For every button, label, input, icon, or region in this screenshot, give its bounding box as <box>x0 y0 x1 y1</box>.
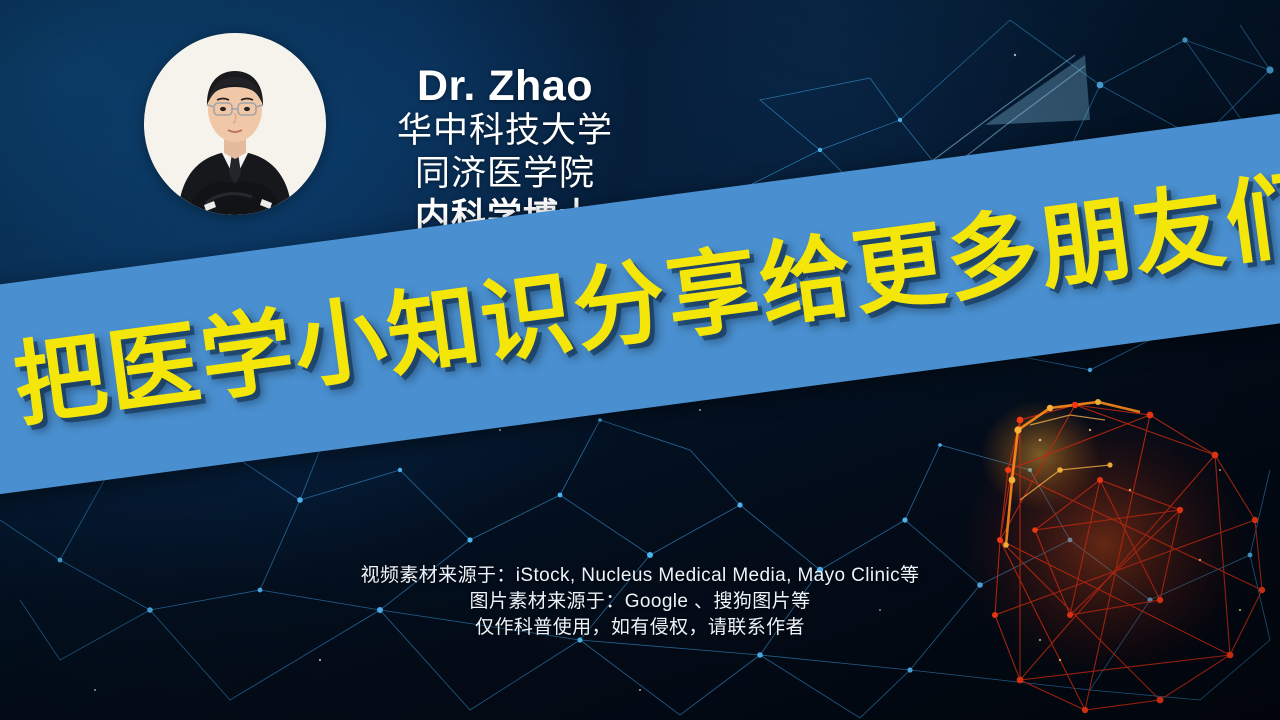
avatar-portrait-illustration <box>144 33 326 215</box>
avatar <box>144 33 326 215</box>
presenter-affiliation-line-2: 同济医学院 <box>360 153 650 196</box>
credits-line-1: 视频素材来源于：iStock, Nucleus Medical Media, M… <box>0 563 1280 589</box>
credits-line-2: 图片素材来源于：Google 、搜狗图片等 <box>0 589 1280 615</box>
presenter-name: Dr. Zhao <box>360 62 650 110</box>
presenter-affiliation-line-1: 华中科技大学 <box>360 110 650 153</box>
credits-block: 视频素材来源于：iStock, Nucleus Medical Media, M… <box>0 563 1280 641</box>
slide-root: Dr. Zhao 华中科技大学 同济医学院 内科学博士 把医学小知识分享给更多朋… <box>0 0 1280 720</box>
credits-line-3: 仅作科普使用，如有侵权，请联系作者 <box>0 615 1280 641</box>
